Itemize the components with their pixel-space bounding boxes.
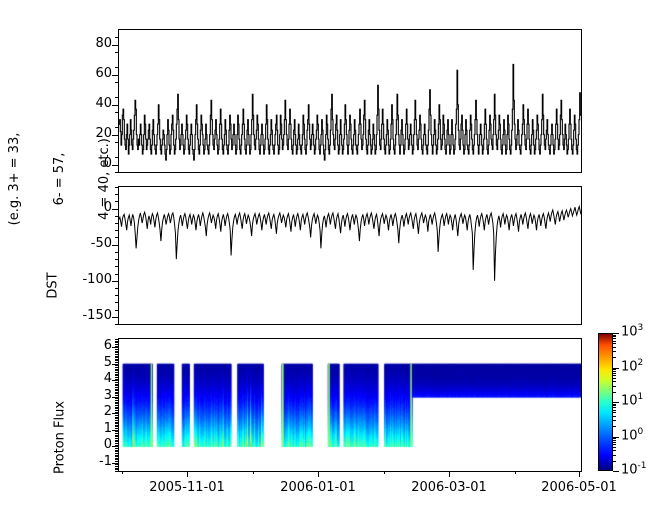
kp-minor-tick (115, 127, 118, 128)
proton-flux-minor-tick (115, 440, 118, 441)
proton-flux-minor-tick (115, 413, 118, 414)
kp-panel (118, 29, 582, 173)
proton-flux-spectrogram (119, 339, 581, 471)
dst-series (119, 187, 581, 324)
kp-axis-label-line3: 6- = 57, (52, 109, 67, 249)
proton-flux-minor-tick (115, 453, 118, 454)
kp-major-tick (112, 45, 118, 46)
proton-flux-minor-tick (115, 443, 118, 444)
colorbar-major-tick (613, 402, 619, 403)
proton-flux-minor-tick (115, 423, 118, 424)
dst-minor-tick (115, 274, 118, 275)
proton-flux-minor-tick (115, 459, 118, 460)
colorbar-minor-tick (613, 341, 616, 342)
colorbar-tick-mantissa: 10 (621, 462, 638, 477)
dst-major-tick (112, 317, 118, 318)
proton-flux-minor-tick (115, 466, 118, 467)
proton-flux-ytick-label: 5 (78, 355, 112, 370)
proton-flux-minor-tick (115, 372, 118, 373)
colorbar-minor-tick (613, 440, 616, 441)
dst-minor-tick (115, 310, 118, 311)
colorbar-minor-tick (613, 416, 616, 417)
proton-flux-minor-tick (115, 341, 118, 342)
dst-ytick-label: -100 (68, 272, 112, 287)
kp-major-tick (112, 135, 118, 136)
kp-minor-tick (115, 97, 118, 98)
proton-flux-ytick-label: -1 (78, 454, 112, 469)
proton-flux-minor-tick (115, 451, 118, 452)
proton-flux-minor-tick (115, 433, 118, 434)
figure-canvas: Kp (e.g. 3+ = 33, 6- = 57, 4 = 40, etc.)… (0, 0, 665, 523)
colorbar-minor-tick (613, 357, 616, 358)
proton-flux-minor-tick (115, 395, 118, 396)
colorbar-minor-tick (613, 351, 616, 352)
proton-flux-minor-tick (115, 367, 118, 368)
colorbar-minor-tick (613, 410, 616, 411)
colorbar-minor-tick (613, 461, 616, 462)
dst-ytick-label: 0 (68, 200, 112, 215)
dst-minor-tick (115, 230, 118, 231)
proton-flux-minor-tick (115, 342, 118, 343)
proton-flux-minor-tick (115, 469, 118, 470)
proton-flux-minor-tick (115, 461, 118, 462)
xaxis-major-tick (187, 471, 188, 477)
xaxis-minor-tick (384, 471, 385, 474)
proton-flux-minor-tick (115, 387, 118, 388)
proton-flux-minor-tick (115, 403, 118, 404)
kp-minor-tick (115, 52, 118, 53)
colorbar-minor-tick (613, 347, 616, 348)
proton-flux-colorbar (598, 333, 613, 471)
kp-minor-tick (115, 172, 118, 173)
proton-flux-minor-tick (115, 352, 118, 353)
dst-minor-tick (115, 259, 118, 260)
proton-flux-minor-tick (115, 359, 118, 360)
colorbar-minor-tick (613, 392, 616, 393)
proton-flux-minor-tick (115, 422, 118, 423)
colorbar-tick-exponent: 3 (638, 323, 644, 333)
colorbar-minor-tick (613, 381, 616, 382)
dst-ytick-label: -50 (68, 236, 112, 251)
colorbar-major-tick (613, 333, 619, 334)
proton-flux-ytick-label: 1 (78, 421, 112, 436)
proton-flux-minor-tick (115, 464, 118, 465)
proton-flux-minor-tick (115, 393, 118, 394)
colorbar-minor-tick (613, 447, 616, 448)
dst-minor-tick (115, 295, 118, 296)
proton-flux-minor-tick (115, 410, 118, 411)
colorbar-minor-tick (613, 378, 616, 379)
dst-minor-tick (115, 324, 118, 325)
proton-flux-minor-tick (115, 392, 118, 393)
colorbar-minor-tick (613, 335, 616, 336)
proton-flux-minor-tick (115, 407, 118, 408)
proton-flux-minor-tick (115, 450, 118, 451)
colorbar-minor-tick (613, 369, 616, 370)
xaxis-major-tick (449, 471, 450, 477)
proton-flux-minor-tick (115, 380, 118, 381)
colorbar-minor-tick (613, 373, 616, 374)
colorbar-minor-tick (613, 405, 616, 406)
colorbar-major-tick (613, 471, 619, 472)
dst-minor-tick (115, 201, 118, 202)
proton-flux-minor-tick (115, 456, 118, 457)
dst-minor-tick (115, 266, 118, 267)
proton-flux-minor-tick (115, 445, 118, 446)
proton-flux-minor-tick (115, 412, 118, 413)
colorbar-tick-label: 100 (621, 427, 643, 443)
colorbar-minor-tick (613, 343, 616, 344)
proton-flux-panel (118, 338, 582, 472)
colorbar-tick-exponent: 2 (638, 358, 644, 368)
proton-flux-minor-tick (115, 430, 118, 431)
dst-minor-tick (115, 252, 118, 253)
dst-minor-tick (115, 216, 118, 217)
proton-flux-minor-tick (115, 369, 118, 370)
dst-minor-tick (115, 194, 118, 195)
dst-major-tick (112, 281, 118, 282)
proton-flux-minor-tick (115, 436, 118, 437)
xaxis-tick-label: 2005-11-01 (132, 480, 242, 495)
proton-flux-minor-tick (115, 362, 118, 363)
colorbar-tick-exponent: 1 (638, 392, 644, 402)
colorbar-tick-label: 101 (621, 392, 643, 408)
proton-flux-minor-tick (115, 344, 118, 345)
kp-minor-tick (115, 157, 118, 158)
proton-flux-minor-tick (115, 448, 118, 449)
proton-flux-minor-tick (115, 415, 118, 416)
colorbar-minor-tick (613, 420, 616, 421)
colorbar-minor-tick (613, 455, 616, 456)
dst-minor-tick (115, 288, 118, 289)
kp-minor-tick (115, 67, 118, 68)
colorbar-tick-label: 102 (621, 358, 643, 374)
proton-flux-minor-tick (115, 346, 118, 347)
colorbar-gradient (599, 334, 612, 470)
proton-flux-minor-tick (115, 468, 118, 469)
colorbar-minor-tick (613, 386, 616, 387)
proton-flux-axis-label-text: Proton Flux (53, 368, 68, 508)
kp-series (119, 30, 581, 172)
kp-axis-label-line2: (e.g. 3+ = 33, (7, 109, 22, 249)
proton-flux-minor-tick (115, 364, 118, 365)
kp-line (119, 64, 581, 160)
proton-flux-minor-tick (115, 426, 118, 427)
proton-flux-minor-tick (115, 382, 118, 383)
proton-flux-minor-tick (115, 463, 118, 464)
colorbar-minor-tick (613, 444, 616, 445)
proton-flux-minor-tick (115, 408, 118, 409)
xaxis-tick-label: 2006-01-01 (263, 480, 373, 495)
kp-ytick-label: 60 (74, 66, 112, 81)
colorbar-minor-tick (613, 426, 616, 427)
proton-flux-minor-tick (115, 370, 118, 371)
proton-flux-minor-tick (115, 360, 118, 361)
proton-flux-minor-tick (115, 417, 118, 418)
colorbar-tick-mantissa: 10 (621, 393, 638, 408)
kp-ytick-label: 40 (74, 96, 112, 111)
colorbar-minor-tick (613, 336, 616, 337)
proton-flux-minor-tick (115, 339, 118, 340)
proton-flux-minor-tick (115, 385, 118, 386)
proton-flux-minor-tick (115, 398, 118, 399)
kp-minor-tick (115, 37, 118, 38)
colorbar-minor-tick (613, 404, 616, 405)
proton-flux-minor-tick (115, 458, 118, 459)
proton-flux-minor-tick (115, 354, 118, 355)
colorbar-tick-mantissa: 10 (621, 359, 638, 374)
dst-minor-tick (115, 223, 118, 224)
proton-flux-minor-tick (115, 418, 118, 419)
proton-flux-minor-tick (115, 377, 118, 378)
dst-ytick-label: -150 (68, 308, 112, 323)
dst-panel (118, 186, 582, 325)
proton-flux-minor-tick (115, 435, 118, 436)
xaxis-minor-tick (253, 471, 254, 474)
proton-flux-minor-tick (115, 405, 118, 406)
xaxis-tick-label: 2006-05-01 (524, 480, 634, 495)
colorbar-tick-mantissa: 10 (621, 428, 638, 443)
proton-flux-minor-tick (115, 365, 118, 366)
proton-flux-minor-tick (115, 446, 118, 447)
proton-flux-minor-tick (115, 420, 118, 421)
proton-flux-minor-tick (115, 471, 118, 472)
kp-ytick-label: 80 (74, 36, 112, 51)
proton-flux-ytick-label: 3 (78, 388, 112, 403)
colorbar-tick-label: 10-1 (621, 461, 647, 477)
dst-axis-label-text: DST (46, 246, 61, 326)
colorbar-minor-tick (613, 450, 616, 451)
colorbar-minor-tick (613, 412, 616, 413)
proton-flux-minor-tick (115, 349, 118, 350)
proton-flux-minor-tick (115, 455, 118, 456)
kp-major-tick (112, 165, 118, 166)
dst-major-tick (112, 245, 118, 246)
proton-flux-ytick-label: 2 (78, 404, 112, 419)
proton-flux-minor-tick (115, 402, 118, 403)
colorbar-tick-exponent: -1 (638, 461, 647, 471)
colorbar-minor-tick (613, 371, 616, 372)
colorbar-tick-mantissa: 10 (621, 324, 638, 339)
proton-flux-ytick-label: 4 (78, 371, 112, 386)
proton-flux-minor-tick (115, 384, 118, 385)
xaxis-tick-label: 2006-03-01 (394, 480, 504, 495)
xaxis-minor-tick (515, 471, 516, 474)
kp-ytick-label: 20 (74, 126, 112, 141)
proton-flux-minor-tick (115, 379, 118, 380)
proton-flux-minor-tick (115, 357, 118, 358)
kp-minor-tick (115, 82, 118, 83)
proton-flux-minor-tick (115, 347, 118, 348)
proton-flux-ytick-label: 6 (78, 338, 112, 353)
colorbar-minor-tick (613, 375, 616, 376)
dst-line (119, 206, 581, 280)
proton-flux-minor-tick (115, 390, 118, 391)
proton-flux-minor-tick (115, 438, 118, 439)
proton-flux-minor-tick (115, 431, 118, 432)
kp-major-tick (112, 105, 118, 106)
xaxis-minor-tick (122, 471, 123, 474)
proton-flux-minor-tick (115, 428, 118, 429)
colorbar-tick-label: 103 (621, 323, 643, 339)
dst-major-tick (112, 209, 118, 210)
proton-flux-minor-tick (115, 397, 118, 398)
proton-flux-minor-tick (115, 441, 118, 442)
kp-ytick-label: 0 (74, 156, 112, 171)
proton-flux-minor-tick (115, 425, 118, 426)
proton-flux-minor-tick (115, 375, 118, 376)
kp-major-tick (112, 75, 118, 76)
kp-minor-tick (115, 112, 118, 113)
colorbar-minor-tick (613, 338, 616, 339)
dst-minor-tick (115, 302, 118, 303)
proton-flux-ytick-label: 0 (78, 437, 112, 452)
xaxis-major-tick (318, 471, 319, 477)
proton-flux-minor-tick (115, 400, 118, 401)
colorbar-minor-tick (613, 442, 616, 443)
kp-minor-tick (115, 142, 118, 143)
colorbar-tick-exponent: 0 (638, 427, 644, 437)
dst-minor-tick (115, 187, 118, 188)
proton-flux-minor-tick (115, 389, 118, 390)
colorbar-minor-tick (613, 438, 616, 439)
proton-flux-minor-tick (115, 374, 118, 375)
xaxis-major-tick (579, 471, 580, 477)
dst-minor-tick (115, 237, 118, 238)
proton-flux-minor-tick (115, 351, 118, 352)
colorbar-minor-tick (613, 407, 616, 408)
proton-flux-minor-tick (115, 356, 118, 357)
